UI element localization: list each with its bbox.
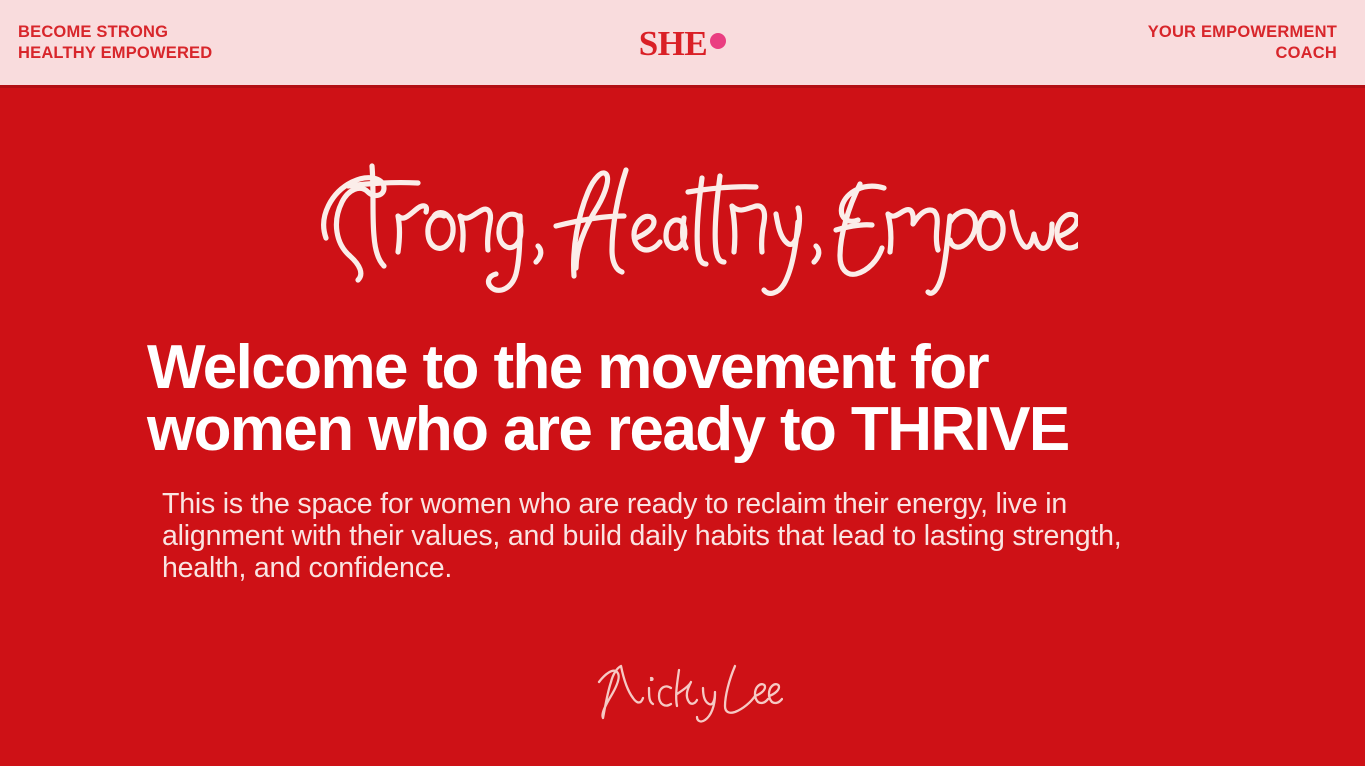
header-tagline-right: YOUR EMPOWERMENT COACH — [937, 22, 1337, 65]
hero-signature: Nicky Lee — [0, 646, 1365, 746]
hero-headline-line1: Welcome to the movement for — [147, 333, 988, 402]
brand-dot-icon — [710, 33, 726, 49]
hero-script-headline: Strong, Healthy, Empowered — [0, 130, 1365, 320]
hero-section: Strong, Healthy, Empowered — [0, 88, 1365, 766]
hero-subcopy: This is the space for women who are read… — [162, 488, 1182, 585]
hero-headline: Welcome to the movement for women who ar… — [147, 337, 1157, 461]
site-header: BECOME STRONG HEALTHY EMPOWERED SHE YOUR… — [0, 0, 1365, 85]
header-tagline-right-line2: COACH — [937, 43, 1337, 64]
header-tagline-right-line1: YOUR EMPOWERMENT — [937, 22, 1337, 43]
hero-headline-line2: women who are ready to THRIVE — [147, 395, 1069, 464]
brand-wordmark: SHE — [639, 24, 708, 63]
